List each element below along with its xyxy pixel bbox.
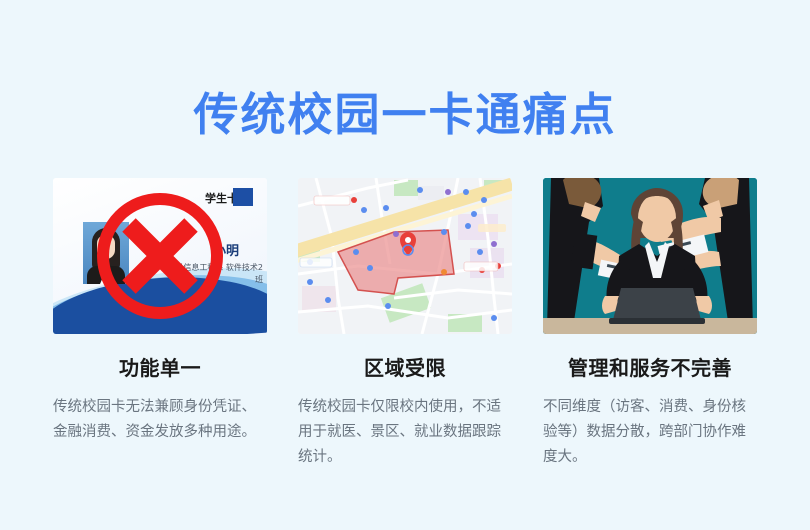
cards-row: 学生卡 小明 23级信息工程系 软件技术2班 功能单一 传统校园卡无法兼顾身份凭…: [0, 178, 810, 498]
card-heading: 功能单一: [119, 352, 201, 381]
map-graphic: [298, 178, 512, 334]
card-body-text: 传统校园卡仅限校内使用，不适用于就医、景区、就业数据跟踪统计。: [298, 395, 512, 470]
card-body-text: 不同维度（访客、消费、身份核验等）数据分散，跨部门协作难度大。: [543, 395, 757, 470]
red-cross-prohibition-icon: [95, 191, 225, 321]
card-heading: 管理和服务不完善: [568, 352, 732, 381]
office-illustration-svg: [543, 178, 757, 334]
office-illustration-graphic: [543, 178, 757, 334]
card-functionality: 学生卡 小明 23级信息工程系 软件技术2班 功能单一 传统校园卡无法兼顾身份凭…: [53, 178, 267, 498]
card-body-text: 传统校园卡无法兼顾身份凭证、金融消费、资金发放多种用途。: [53, 395, 267, 445]
card-management-service: 管理和服务不完善 不同维度（访客、消费、身份核验等）数据分散，跨部门协作难度大。: [543, 178, 757, 498]
card-image-map: [298, 178, 512, 334]
id-card-chip: [233, 188, 253, 206]
illustration-laptop: [609, 288, 705, 324]
page-title: 传统校园一卡通痛点: [0, 78, 810, 143]
card-image-illustration: [543, 178, 757, 334]
card-heading: 区域受限: [364, 352, 446, 381]
map-svg: [298, 178, 512, 334]
card-area-limited: 区域受限 传统校园卡仅限校内使用，不适用于就医、景区、就业数据跟踪统计。: [298, 178, 512, 498]
card-image-student-id: 学生卡 小明 23级信息工程系 软件技术2班: [53, 178, 267, 334]
